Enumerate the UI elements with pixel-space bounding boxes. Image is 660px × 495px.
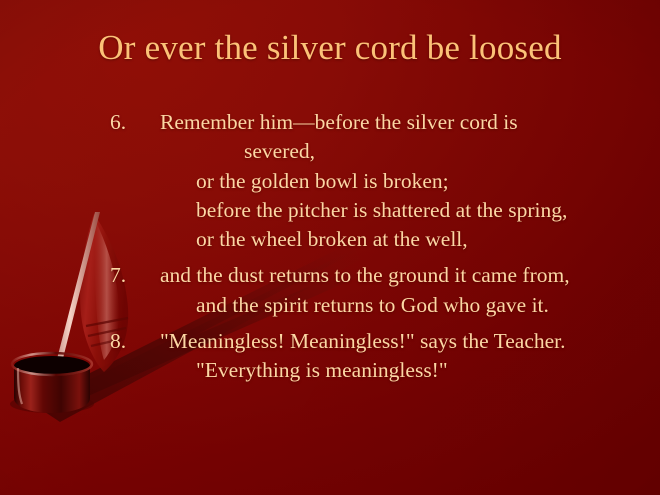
list-item-line: or the wheel broken at the well, [160,225,660,254]
list-item-lines: "Meaningless! Meaningless!" says the Tea… [160,327,660,386]
list-item: 7. and the dust returns to the ground it… [108,261,660,320]
list-item: 6. Remember him—before the silver cord i… [108,108,660,254]
presentation-slide: Or ever the silver cord be loosed 6. Rem… [0,0,660,495]
list-item-number: 6. [110,108,138,137]
list-item-lines: Remember him—before the silver cord is s… [160,108,660,254]
list-item-line: and the spirit returns to God who gave i… [160,291,660,320]
list-item-line: or the golden bowl is broken; [160,167,660,196]
list-item-line: Remember him—before the silver cord is [160,108,660,137]
list-item-line: and the dust returns to the ground it ca… [160,261,660,290]
list-item-lines: and the dust returns to the ground it ca… [160,261,660,320]
list-item-line: "Everything is meaningless!" [160,356,660,385]
slide-body-list: 6. Remember him—before the silver cord i… [108,108,660,388]
list-item-line: severed, [160,137,660,166]
list-item-line: "Meaningless! Meaningless!" says the Tea… [160,327,660,356]
list-item-number: 8. [110,327,138,356]
list-item: 8. "Meaningless! Meaningless!" says the … [108,327,660,386]
list-item-line: before the pitcher is shattered at the s… [160,196,660,225]
slide-title: Or ever the silver cord be loosed [0,26,660,70]
list-item-number: 7. [110,261,138,290]
